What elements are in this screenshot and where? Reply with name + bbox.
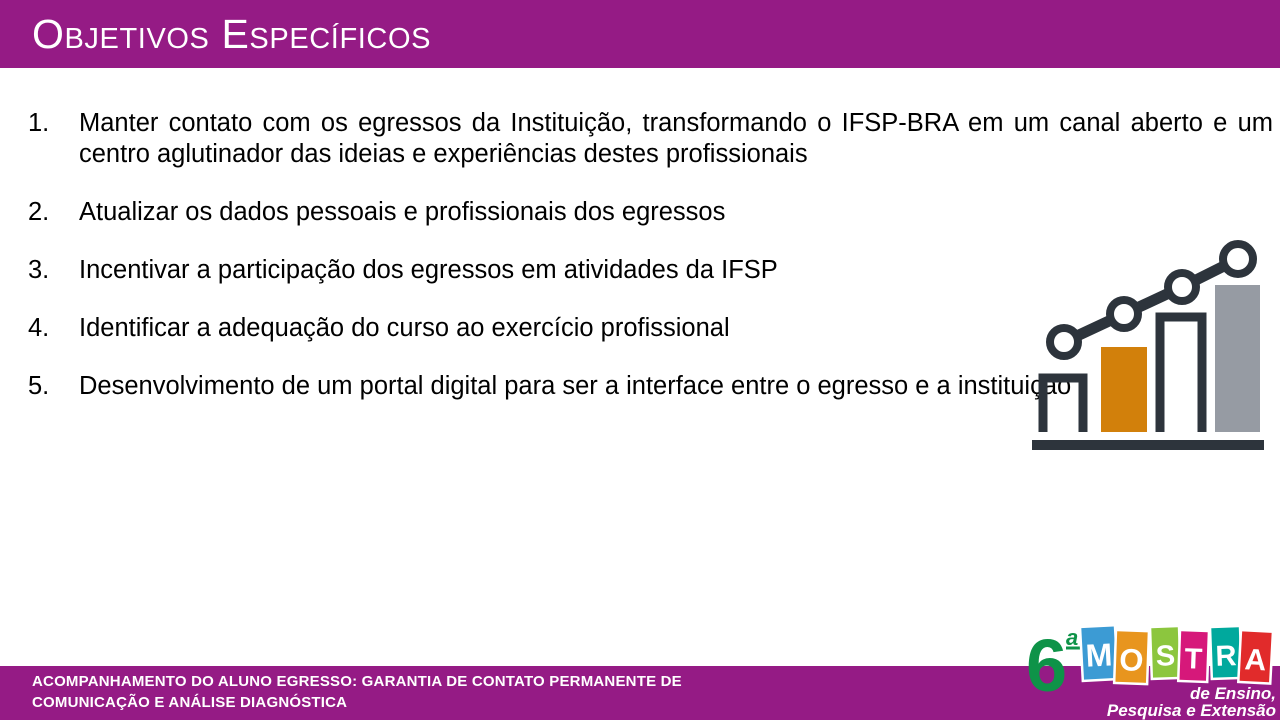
footer-text: ACOMPANHAMENTO DO ALUNO EGRESSO: GARANTI… [32, 671, 962, 713]
page-title: Objetivos Específicos [32, 11, 431, 57]
growth-bar-chart-icon [1012, 232, 1272, 464]
svg-text:A: A [1244, 643, 1267, 677]
svg-text:O: O [1119, 642, 1144, 678]
list-item-text: Atualizar os dados pessoais e profission… [79, 197, 1273, 228]
list-item-text: Manter contato com os egressos da Instit… [79, 108, 1273, 170]
svg-text:T: T [1184, 643, 1203, 676]
list-item-number: 2. [28, 197, 79, 228]
logo-ordinal-suffix: a [1066, 625, 1078, 650]
list-item-number: 5. [28, 371, 79, 402]
slide: Objetivos Específicos 1. Manter contato … [0, 0, 1280, 720]
footer-line-1: ACOMPANHAMENTO DO ALUNO EGRESSO: GARANTI… [32, 671, 962, 692]
list-item: 1. Manter contato com os egressos da Ins… [28, 108, 1273, 170]
list-item: 2. Atualizar os dados pessoais e profiss… [28, 197, 1273, 228]
logo-word-mostra: M O S T R [1080, 625, 1273, 684]
logo-tagline-line-2: Pesquisa e Extensão [1107, 701, 1276, 720]
list-item-number: 1. [28, 108, 79, 139]
logo-six: 6 [1026, 624, 1067, 707]
footer-line-2: COMUNICAÇÃO E ANÁLISE DIAGNÓSTICA [32, 692, 962, 713]
list-item-number: 3. [28, 255, 79, 286]
svg-text:S: S [1155, 640, 1175, 673]
svg-text:R: R [1215, 640, 1237, 673]
svg-text:M: M [1085, 636, 1114, 673]
mostra-logo: 6 a M O S T [1024, 619, 1280, 720]
list-item-number: 4. [28, 313, 79, 344]
